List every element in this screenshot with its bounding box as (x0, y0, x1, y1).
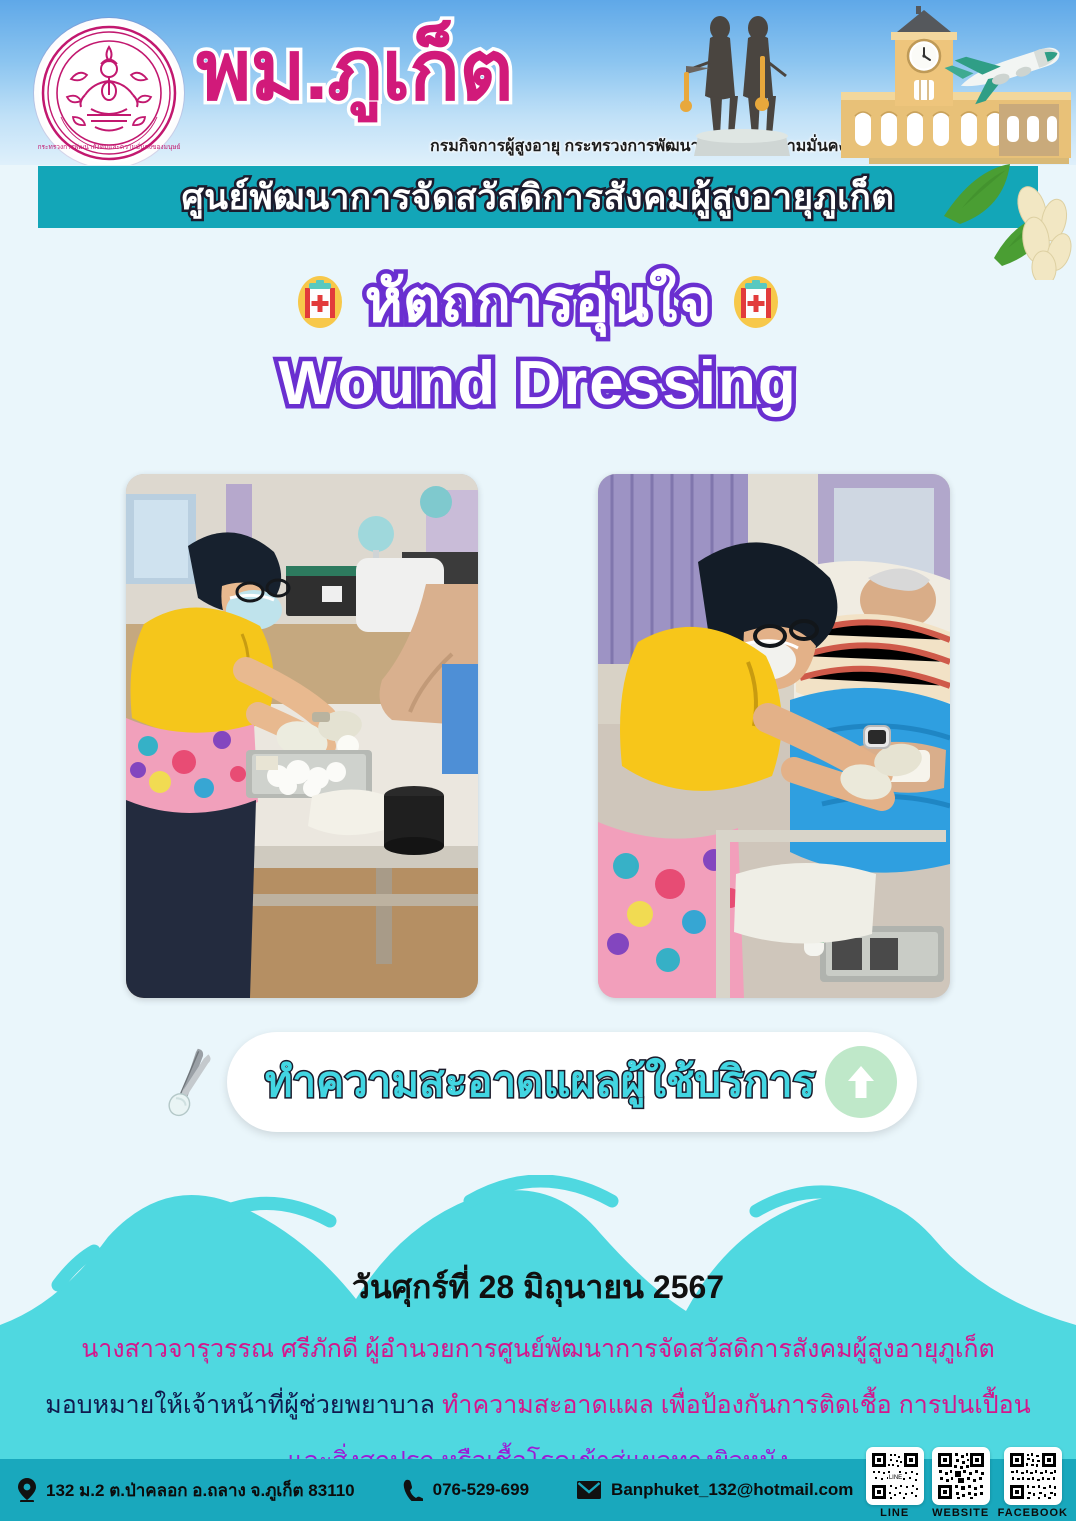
qr-code-icon: LINE (870, 1451, 920, 1501)
jasmine-flower-decoration (936, 150, 1076, 280)
body-line-1: นางสาวจารุวรรณ ศรีภักดี ผู้อำนวยการศูนย์… (81, 1329, 995, 1369)
body-line-2-pink: ทำความสะอาดแผล เพื่อป้องกันการติดเชื้อ ก… (442, 1391, 1031, 1419)
photo-2-illustration (598, 474, 950, 998)
photo-wound-dressing-foot (126, 474, 478, 998)
org-logo-text: พม.ภูเก็ต (196, 26, 513, 114)
envelope-icon (577, 1481, 601, 1499)
airplane-icon (938, 28, 1068, 113)
title-thai-row: หัตถการอุ่นใจ (0, 268, 1076, 336)
seal-icon: กระทรวงการพัฒนาสังคมและความมั่นคงของมนุษ… (37, 21, 181, 165)
first-aid-kit-icon (733, 276, 779, 328)
photo-wound-dressing-arm (598, 474, 950, 998)
caption-pill: ทำความสะอาดแผลผู้ใช้บริการ (227, 1032, 917, 1132)
event-date: วันศุกร์ที่ 28 มิถุนายน 2567 (352, 1262, 724, 1313)
title-thai: หัตถการอุ่นใจ (365, 268, 712, 336)
qr-code-icon (1008, 1451, 1058, 1501)
body-line-2: มอบหมายให้เจ้าหน้าที่ผู้ช่วยพยาบาล ทำควา… (45, 1385, 1030, 1425)
center-name-banner: ศูนย์พัฒนาการจัดสวัสดิการสังคมผู้สูงอายุ… (38, 166, 1038, 228)
tweezers-icon (159, 1044, 217, 1120)
phone-icon (403, 1479, 423, 1501)
center-name-text: ศูนย์พัฒนาการจัดสวัสดิการสังคมผู้สูงอายุ… (181, 170, 894, 225)
contact-email: Banphuket_132@hotmail.com (577, 1480, 853, 1500)
qr-code-group: LINE LINE (866, 1447, 1068, 1519)
address-text: 132 ม.2 ต.ป่าคลอก อ.ถลาง จ.ภูเก็ต 83110 (46, 1477, 355, 1504)
qr-facebook-image[interactable] (1004, 1447, 1062, 1505)
location-pin-icon (18, 1478, 36, 1502)
body-section: วันศุกร์ที่ 28 มิถุนายน 2567 นางสาวจารุว… (0, 1175, 1076, 1467)
first-aid-kit-icon (297, 276, 343, 328)
qr-code-icon (936, 1451, 986, 1501)
title-english: Wound Dressing (0, 350, 1076, 418)
email-text: Banphuket_132@hotmail.com (611, 1480, 853, 1500)
header-artwork (636, 0, 1076, 165)
thai-ministry-seal-emblem: กระทรวงการพัฒนาสังคมและความมั่นคงของมนุษ… (34, 18, 184, 165)
photo-gallery (0, 474, 1076, 998)
svg-text:กระทรวงการพัฒนาสังคมและความมั่: กระทรวงการพัฒนาสังคมและความมั่นคงของมนุษ… (38, 142, 181, 151)
footer-contact-bar: 132 ม.2 ต.ป่าคลอก อ.ถลาง จ.ภูเก็ต 83110 … (0, 1459, 1076, 1521)
qr-facebook-label: FACEBOOK (998, 1507, 1068, 1519)
contact-phone: 076-529-699 (403, 1479, 529, 1501)
qr-facebook[interactable]: FACEBOOK (998, 1447, 1068, 1519)
qr-line-image[interactable]: LINE (866, 1447, 924, 1505)
qr-website-image[interactable] (932, 1447, 990, 1505)
phone-text: 076-529-699 (433, 1480, 529, 1500)
body-text-block: วันศุกร์ที่ 28 มิถุนายน 2567 นางสาวจารุว… (0, 1175, 1076, 1467)
qr-website-label: WEBSITE (932, 1507, 989, 1519)
caption-text: ทำความสะอาดแผลผู้ใช้บริการ (265, 1049, 815, 1115)
qr-website[interactable]: WEBSITE (932, 1447, 990, 1519)
up-arrow-icon (841, 1060, 881, 1104)
photo-1-illustration (126, 474, 478, 998)
up-arrow-badge[interactable] (825, 1046, 897, 1118)
poster-title-block: หัตถการอุ่นใจ Wound Dressing (0, 268, 1076, 419)
svg-text:LINE: LINE (888, 1475, 901, 1481)
poster-header: กระทรวงการพัฒนาสังคมและความมั่นคงของมนุษ… (0, 0, 1076, 165)
contact-address: 132 ม.2 ต.ป่าคลอก อ.ถลาง จ.ภูเก็ต 83110 (18, 1477, 355, 1504)
qr-line[interactable]: LINE LINE (866, 1447, 924, 1519)
qr-line-label: LINE (880, 1507, 909, 1519)
caption-row: ทำความสะอาดแผลผู้ใช้บริการ (0, 1032, 1076, 1132)
body-line-2-navy: มอบหมายให้เจ้าหน้าที่ผู้ช่วยพยาบาล (45, 1391, 435, 1419)
two-heroines-monument-icon (676, 10, 806, 160)
